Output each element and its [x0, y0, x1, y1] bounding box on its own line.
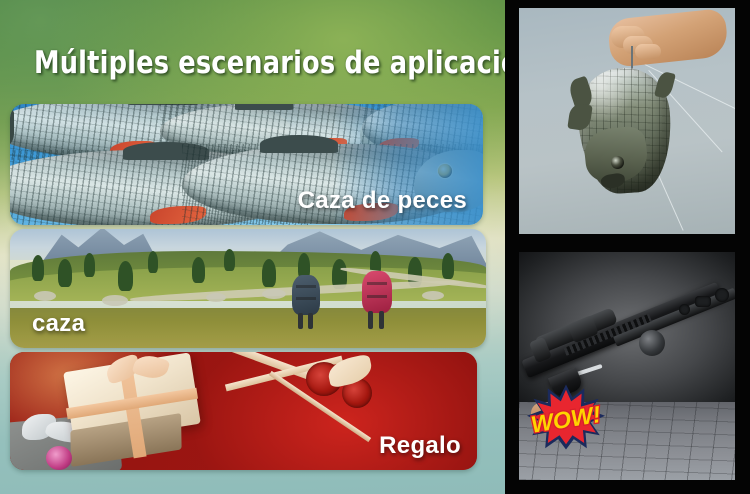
scenario-card-fish-hunting[interactable]: Caza de peces	[10, 104, 483, 225]
rock	[262, 289, 286, 299]
hiker-backpack-gray	[292, 275, 320, 315]
hiker-leg	[308, 313, 313, 329]
tree	[442, 253, 454, 279]
scenario-card-label-gift: Regalo	[379, 432, 461, 460]
hiker-leg	[368, 311, 373, 329]
tree	[224, 249, 235, 271]
wow-badge: WOW!	[527, 384, 605, 450]
pivot-joint	[639, 330, 665, 356]
scenario-card-hunting[interactable]: caza	[10, 229, 486, 348]
page-title: Múltiples escenarios de aplicación	[34, 45, 505, 81]
left-panel: Múltiples escenarios de aplicación	[0, 0, 505, 494]
pink-gem	[46, 446, 72, 470]
carp-eye	[611, 156, 624, 169]
hiker-backpack-pink	[362, 271, 392, 313]
scenario-card-label-hunting: caza	[32, 310, 85, 338]
product-photo-fish-catch[interactable]	[519, 8, 735, 234]
tree	[192, 257, 205, 283]
tree	[262, 259, 276, 287]
rock	[34, 291, 56, 301]
tree	[32, 255, 44, 281]
scenario-card-gift[interactable]: Regalo	[10, 352, 477, 470]
right-panel: WOW!	[505, 0, 750, 494]
tree	[58, 259, 72, 287]
hiker-leg	[298, 313, 303, 329]
rail-hole	[715, 288, 729, 302]
tree	[84, 253, 95, 277]
product-photo-crossbow[interactable]: WOW!	[519, 252, 735, 480]
rock	[102, 295, 128, 306]
rail-slot	[695, 296, 711, 307]
finger	[635, 44, 661, 59]
rock	[422, 291, 444, 300]
tree	[118, 261, 133, 291]
rail-hole	[679, 304, 690, 315]
rock	[206, 293, 226, 302]
promo-banner: Múltiples escenarios de aplicación	[0, 0, 750, 494]
tree	[148, 251, 158, 273]
scenario-card-label-fish: Caza de peces	[298, 187, 467, 215]
hiker-leg	[379, 311, 384, 329]
